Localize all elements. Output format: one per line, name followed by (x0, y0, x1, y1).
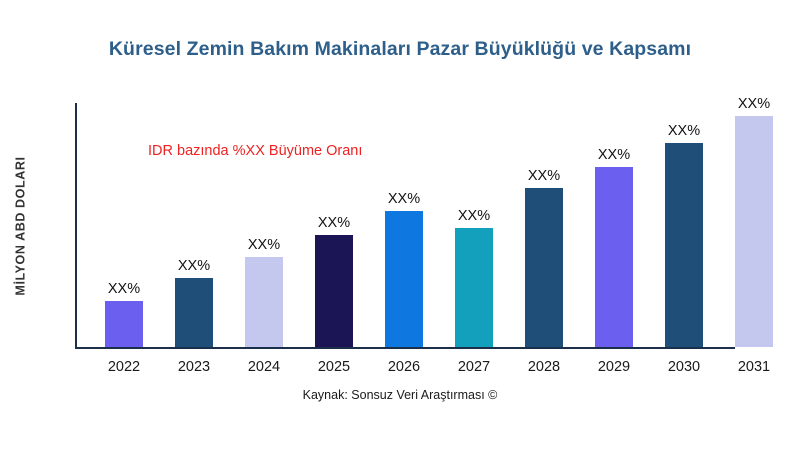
x-tick-label: 2027 (441, 359, 507, 375)
bar-group: XX% (105, 301, 143, 347)
y-axis-line (75, 103, 77, 349)
bar-group: XX% (455, 228, 493, 347)
bar-value-label: XX% (371, 191, 437, 207)
bar-group: XX% (315, 235, 353, 347)
bar-group: XX% (245, 257, 283, 347)
bar (385, 211, 423, 347)
bar-value-label: XX% (301, 215, 367, 231)
bar-value-label: XX% (91, 281, 157, 297)
bar-group: XX% (175, 278, 213, 347)
plot-area: XX%XX%XX%XX%XX%XX%XX%XX%XX%XX% 202220232… (75, 103, 780, 349)
market-size-bar-chart: Küresel Zemin Bakım Makinaları Pazar Büy… (0, 0, 800, 450)
bar (595, 167, 633, 347)
x-axis-line (75, 347, 735, 349)
growth-rate-annotation: IDR bazında %XX Büyüme Oranı (148, 143, 362, 159)
x-tick-label: 2029 (581, 359, 647, 375)
bar-value-label: XX% (511, 168, 577, 184)
bar-group: XX% (595, 167, 633, 347)
bar-value-label: XX% (231, 237, 297, 253)
bar (525, 188, 563, 347)
x-tick-label: 2031 (721, 359, 787, 375)
source-note: Kaynak: Sonsuz Veri Araştırması © (0, 388, 800, 402)
bar-value-label: XX% (651, 123, 717, 139)
x-tick-label: 2030 (651, 359, 717, 375)
x-tick-label: 2025 (301, 359, 367, 375)
bar-group: XX% (385, 211, 423, 347)
x-tick-label: 2022 (91, 359, 157, 375)
x-tick-label: 2026 (371, 359, 437, 375)
bar (665, 143, 703, 347)
bar-value-label: XX% (161, 258, 227, 274)
bar-group: XX% (665, 143, 703, 347)
y-axis-label-text: MİLYON ABD DOLARI (14, 156, 28, 295)
bar-value-label: XX% (441, 208, 507, 224)
bar-group: XX% (525, 188, 563, 347)
bar (315, 235, 353, 347)
bar-value-label: XX% (581, 147, 647, 163)
bar (735, 116, 773, 347)
chart-title: Küresel Zemin Bakım Makinaları Pazar Büy… (0, 38, 800, 61)
bar (245, 257, 283, 347)
y-axis-label: MİLYON ABD DOLARI (10, 103, 32, 349)
bar (105, 301, 143, 347)
x-tick-label: 2028 (511, 359, 577, 375)
bar (175, 278, 213, 347)
bar-group: XX% (735, 116, 773, 347)
bar (455, 228, 493, 347)
x-tick-label: 2024 (231, 359, 297, 375)
x-tick-label: 2023 (161, 359, 227, 375)
bar-value-label: XX% (721, 96, 787, 112)
